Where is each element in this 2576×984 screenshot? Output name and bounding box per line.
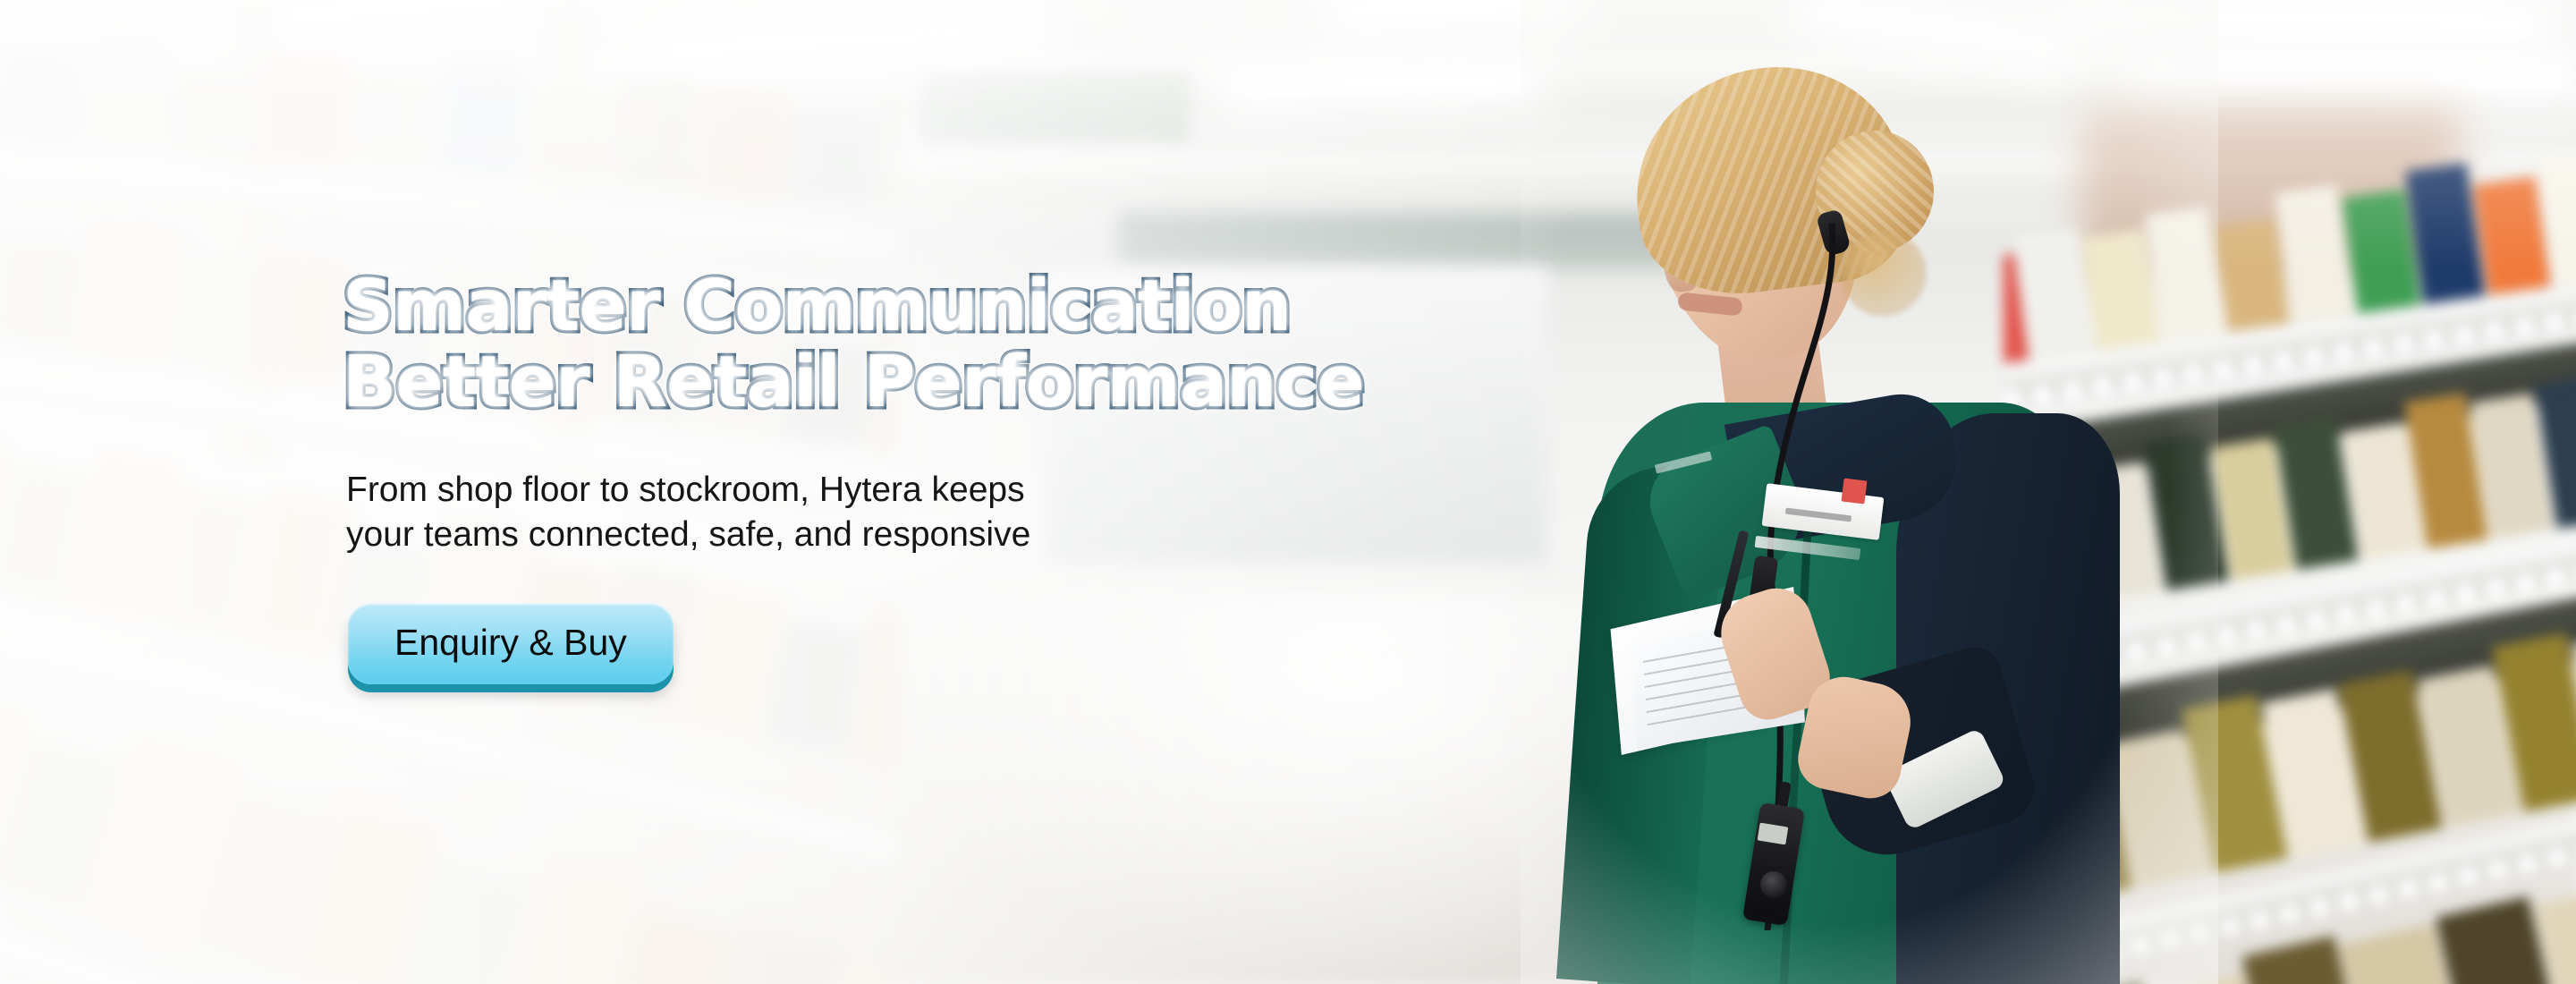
hero-banner: Smarter Communication Better Retail Perf… <box>0 0 2576 984</box>
hero-content: Smarter Communication Better Retail Perf… <box>343 268 1505 684</box>
retail-worker-figure <box>1521 0 2218 984</box>
cta-container: Enquiry & Buy <box>348 603 1505 684</box>
badge-red-accent <box>1842 479 1868 505</box>
page-title: Smarter Communication Better Retail Perf… <box>343 268 1505 421</box>
hair-wisps <box>1841 231 1927 317</box>
hero-subtitle: From shop floor to stockroom, Hytera kee… <box>346 468 1505 558</box>
enquiry-and-buy-button[interactable]: Enquiry & Buy <box>348 603 674 684</box>
